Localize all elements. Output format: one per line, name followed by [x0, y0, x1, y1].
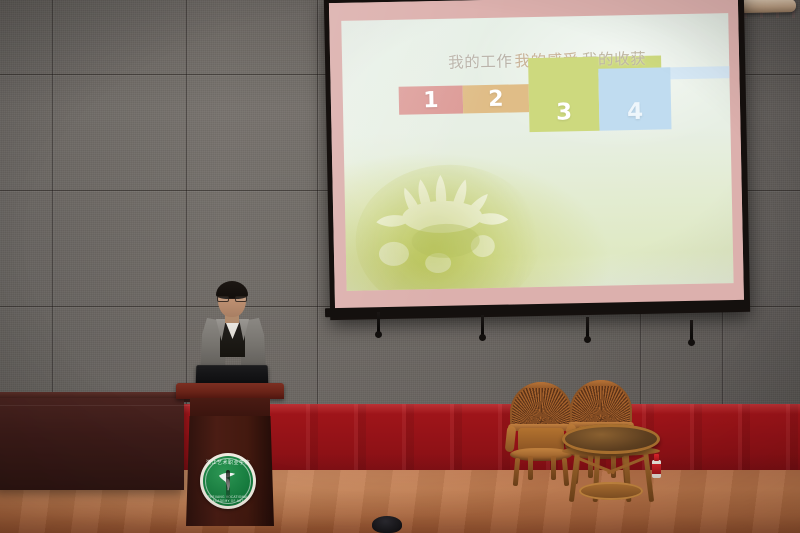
logo-chinese-text: 浙江艺术职业学院: [203, 459, 253, 466]
wall-panel-seam: [317, 0, 318, 430]
table-lower-shelf: [579, 482, 643, 500]
slide-number-blocks: 1 2 3 4: [398, 74, 671, 134]
glasses-lens-left: [217, 296, 229, 302]
floor-object: [372, 516, 402, 533]
lotus-graphic: [348, 133, 541, 287]
chair-leg: [551, 456, 556, 480]
number-block-1: 1: [399, 85, 464, 114]
rattan-table: [562, 424, 660, 510]
wall-panel-seam: [186, 0, 187, 430]
slide-content-area: 我的工作 我的感受 我的收获 1 2 3 4: [341, 13, 733, 291]
wall-panel-seam: [52, 0, 53, 430]
heading-my-work: 我的工作: [448, 54, 513, 71]
screen-weight: [377, 312, 380, 334]
screen-weight: [690, 320, 693, 342]
podium-cable: [226, 470, 230, 500]
chair-fan-back: [510, 382, 572, 428]
number-block-3: 3: [528, 57, 599, 132]
table-top: [562, 424, 660, 454]
screen-surface: 我的工作 我的感受 我的收获 1 2 3 4: [329, 0, 744, 313]
cabinet-seam: [0, 405, 190, 406]
screen-weight: [481, 315, 484, 337]
number-block-4: 4: [598, 67, 671, 130]
beverage-bottle: [652, 454, 661, 478]
chair-leg: [528, 456, 533, 480]
chair-arm-left: [505, 426, 517, 453]
chair-fan-back: [570, 380, 632, 426]
projection-screen: 我的工作 我的感受 我的收获 1 2 3 4: [324, 0, 750, 320]
chair-leg: [513, 458, 520, 486]
wooden-cabinet: [0, 398, 184, 490]
number-block-2: 2: [463, 84, 530, 113]
bottle-label: [652, 464, 661, 474]
screen-weight: [586, 317, 589, 339]
presentation-slide: 我的工作 我的感受 我的收获 1 2 3 4: [329, 0, 744, 313]
glasses-icon: [217, 296, 247, 302]
photo-scene: 我的工作 我的感受 我的收获 1 2 3 4: [0, 0, 800, 533]
brace-bar: [607, 457, 645, 475]
stage-furniture: [500, 382, 660, 512]
bottle-cap: [654, 454, 659, 461]
podium-top: [176, 383, 284, 399]
podium-neck: [190, 398, 270, 418]
podium: 浙江艺术职业学院 ZHEJIANG VOCATIONAL ACADEMY OF …: [176, 383, 284, 533]
glasses-lens-right: [235, 296, 247, 302]
block-4-extension: [663, 66, 733, 79]
